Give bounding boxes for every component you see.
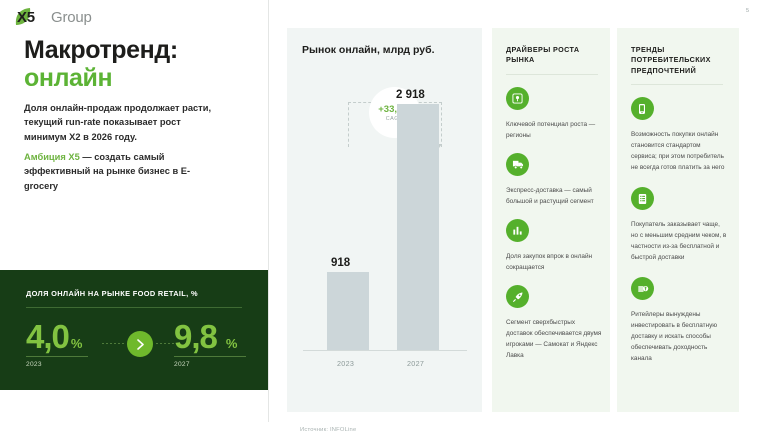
kpi-row: 4,0% 2023 9,8% 2027 bbox=[26, 320, 246, 380]
list-item-label: Ритейлеры вынуждены инвестировать в бесп… bbox=[631, 309, 727, 364]
trends-heading: ТРЕНДЫ ПОТРЕБИТЕЛЬСКИХ ПРЕДПОЧТЕНИЙ bbox=[631, 45, 726, 76]
map-pin-icon bbox=[506, 87, 529, 110]
vertical-divider bbox=[268, 0, 269, 422]
list-item: Сегмент сверхбыстрых доставок обеспечива… bbox=[506, 285, 602, 361]
list-item-label: Экспресс-доставка — самый большой и раст… bbox=[506, 185, 602, 207]
list-item-label: Покупатель заказывает чаще, но с меньшим… bbox=[631, 219, 727, 263]
chart-title: Рынок онлайн, млрд руб. bbox=[302, 44, 435, 56]
divider bbox=[506, 74, 598, 75]
ambition-paragraph: Амбиция X5 — создать самый эффективный н… bbox=[24, 150, 214, 193]
list-item-label: Ключевой потенциал роста — регионы bbox=[506, 119, 602, 141]
trends-card: ТРЕНДЫ ПОТРЕБИТЕЛЬСКИХ ПРЕДПОЧТЕНИЙ Возм… bbox=[617, 28, 739, 412]
logo-wordmark: Group bbox=[51, 9, 92, 26]
kpi-from-unit: % bbox=[71, 336, 83, 351]
list-item: Ключевой потенциал роста — регионы bbox=[506, 87, 602, 141]
title-line-1: Макротренд: bbox=[24, 36, 178, 64]
chart-source: Источник: INFOLine bbox=[300, 427, 356, 433]
receipt-list-icon bbox=[631, 187, 654, 210]
kpi-to-value: 9,8 bbox=[174, 318, 217, 355]
x-tick-2027: 2027 bbox=[407, 359, 424, 368]
list-item: Ритейлеры вынуждены инвестировать в бесп… bbox=[631, 277, 727, 364]
kpi-from: 4,0% 2023 bbox=[26, 320, 88, 368]
divider bbox=[26, 307, 242, 308]
title-line-2: онлайн bbox=[24, 64, 254, 92]
leaf-icon: X5 bbox=[14, 7, 33, 27]
delivery-truck-icon bbox=[506, 153, 529, 176]
divider bbox=[631, 84, 723, 85]
page-number: 5 bbox=[746, 8, 749, 14]
bar-chart-icon bbox=[506, 219, 529, 242]
x-tick-2023: 2023 bbox=[337, 359, 354, 368]
page-title: Макротренд: онлайн bbox=[24, 36, 254, 93]
list-item: Доля закупок впрок в онлайн сокращается bbox=[506, 219, 602, 273]
drivers-heading: ДРАЙВЕРЫ РОСТА РЫНКА bbox=[506, 45, 601, 66]
left-column: X5 Group Макротренд: онлайн Доля онлайн-… bbox=[0, 0, 268, 422]
list-item-label: Сегмент сверхбыстрых доставок обеспечива… bbox=[506, 317, 602, 361]
axis-baseline bbox=[303, 350, 467, 351]
list-item-label: Доля закупок впрок в онлайн сокращается bbox=[506, 251, 602, 273]
dotted-connector-left bbox=[102, 343, 124, 344]
x5group-logo: X5 Group bbox=[14, 7, 92, 27]
online-share-panel: ДОЛЯ ОНЛАЙН НА РЫНКЕ FOOD RETAIL, % 4,0%… bbox=[0, 270, 268, 390]
ambition-lead: Амбиция X5 bbox=[24, 152, 80, 162]
kpi-from-year: 2023 bbox=[26, 361, 88, 368]
drivers-list: Ключевой потенциал роста — регионы Экспр… bbox=[506, 87, 602, 361]
rocket-icon bbox=[506, 285, 529, 308]
bar-2023 bbox=[327, 272, 369, 350]
mobile-phone-icon bbox=[631, 97, 654, 120]
kpi-to-unit: % bbox=[226, 336, 238, 351]
trends-list: Возможность покупки онлайн становится ст… bbox=[631, 97, 727, 364]
bar-chart: +33,5% CAGR 918 2 918 2023 2027 bbox=[299, 103, 471, 373]
list-item: Возможность покупки онлайн становится ст… bbox=[631, 97, 727, 173]
chart-panel: Рынок онлайн, млрд руб. +33,5% CAGR 918 … bbox=[287, 28, 482, 412]
kpi-to: 9,8% 2027 bbox=[174, 320, 246, 368]
underline bbox=[174, 356, 246, 357]
logo-mark: X5 bbox=[17, 9, 35, 26]
bar-value-2023: 918 bbox=[331, 257, 350, 269]
slide: X5 Group Макротренд: онлайн Доля онлайн-… bbox=[0, 0, 758, 422]
bar-2027 bbox=[397, 104, 439, 350]
underline bbox=[26, 356, 88, 357]
kpi-to-year: 2027 bbox=[174, 361, 246, 368]
bar-value-2027: 2 918 bbox=[396, 89, 425, 101]
drivers-card: ДРАЙВЕРЫ РОСТА РЫНКА Ключевой потенциал … bbox=[492, 28, 610, 412]
chevron-right-icon bbox=[127, 331, 153, 357]
list-item: Покупатель заказывает чаще, но с меньшим… bbox=[631, 187, 727, 263]
intro-paragraph: Доля онлайн-продаж продолжает расти, тек… bbox=[24, 101, 224, 144]
online-share-title: ДОЛЯ ОНЛАЙН НА РЫНКЕ FOOD RETAIL, % bbox=[26, 289, 198, 298]
kpi-from-value: 4,0 bbox=[26, 318, 69, 355]
list-item-label: Возможность покупки онлайн становится ст… bbox=[631, 129, 727, 173]
money-stack-icon bbox=[631, 277, 654, 300]
list-item: Экспресс-доставка — самый большой и раст… bbox=[506, 153, 602, 207]
